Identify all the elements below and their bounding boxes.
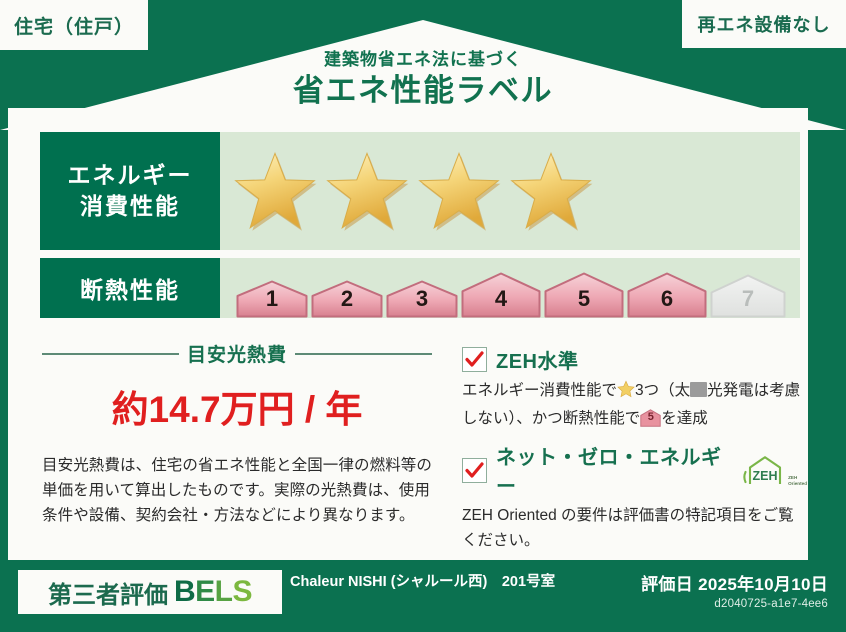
zeh-section: ZEH水準 エネルギー消費性能で3つ（太光発電は考慮しない）、かつ断熱性能で5を… — [462, 345, 807, 563]
zeh-standard-body-part4: を達成 — [661, 410, 708, 427]
title-subtitle: 建築物省エネ法に基づく — [0, 50, 846, 70]
insulation-level-2: 2 — [311, 280, 383, 318]
insulation-label-text: 断熱性能 — [80, 271, 180, 305]
energy-consumption-value — [220, 132, 800, 250]
label-footer: 第三者評価 BELS Chaleur NISHI (シャルール西) 201号室 … — [0, 560, 846, 632]
energy-consumption-label-line2: 消費性能 — [80, 191, 180, 222]
energy-consumption-label-line1: エネルギー — [68, 160, 193, 191]
checkbox-checked-icon — [462, 458, 487, 483]
badge-renewable-energy-label: 再エネ設備なし — [698, 11, 831, 37]
performance-section: エネルギー 消費性能 断熱性能 1234567 — [40, 132, 800, 326]
insulation-level-value: 6 — [627, 286, 707, 312]
cost-note: 目安光熱費は、住宅の省エネ性能と全国一律の燃料等の単価を用いて算出したものです。… — [42, 453, 432, 528]
badge-renewable-energy: 再エネ設備なし — [682, 0, 846, 48]
zeh-standard-title: ZEH水準 — [496, 345, 579, 374]
building-name: Chaleur NISHI (シャルール西) 201号室 — [290, 572, 590, 593]
evaluation-date-block: 評価日 2025年10月10日 d2040725-a1e7-4ee6 — [641, 570, 828, 610]
zeh-net-zero-title: ネット・ゼロ・エネルギー — [496, 441, 734, 499]
row-insulation: 断熱性能 1234567 — [40, 258, 800, 318]
energy-consumption-label: エネルギー 消費性能 — [40, 132, 220, 250]
zeh-item-net-zero: ネット・ゼロ・エネルギー ZEH ZEH Oriented ZEH Orient… — [462, 441, 807, 553]
title-main: 省エネ性能ラベル — [0, 72, 846, 111]
insulation-level-value: 7 — [710, 286, 786, 312]
zeh-standard-body-part1: エネルギー消費性能で — [462, 382, 617, 399]
cost-heading-rule-right — [295, 353, 432, 355]
zeh-standard-body-part2: 3つ（太 — [635, 382, 690, 399]
cost-heading-rule-left — [42, 353, 179, 355]
zeh-oriented-logo: ZEH ZEH Oriented — [743, 455, 807, 486]
insulation-level-value: 3 — [386, 286, 458, 312]
insulation-label: 断熱性能 — [40, 258, 220, 318]
insulation-level-value: 2 — [311, 286, 383, 312]
zeh-standard-body: エネルギー消費性能で3つ（太光発電は考慮しない）、かつ断熱性能で5を達成 — [462, 378, 807, 431]
zeh-net-zero-body: ZEH Oriented の要件は評価書の特記項目をご覧ください。 — [462, 503, 807, 553]
checkbox-checked-icon — [462, 347, 487, 372]
bels-logo-en: BELS — [174, 575, 252, 609]
row-energy-consumption: エネルギー 消費性能 — [40, 132, 800, 250]
bels-logo-jp: 第三者評価 — [48, 575, 168, 610]
star-icon — [232, 150, 318, 232]
bels-logo: 第三者評価 BELS — [18, 570, 282, 614]
insulation-level-3: 3 — [386, 280, 458, 318]
zeh-item-standard: ZEH水準 エネルギー消費性能で3つ（太光発電は考慮しない）、かつ断熱性能で5を… — [462, 345, 807, 431]
insulation-level-6: 6 — [627, 272, 707, 318]
insulation-level-5: 5 — [544, 272, 624, 318]
insulation-level-1: 1 — [236, 280, 308, 318]
cost-heading: 目安光熱費 — [42, 340, 432, 367]
evaluation-date-value: 2025年10月10日 — [698, 575, 828, 594]
star-icon-inline — [617, 380, 635, 406]
star-icon — [416, 150, 502, 232]
insulation-badge-inline: 5 — [640, 409, 661, 427]
insulation-badge-inline-value: 5 — [640, 409, 661, 427]
star-icon — [324, 150, 410, 232]
zeh-net-zero-header: ネット・ゼロ・エネルギー ZEH ZEH Oriented — [462, 441, 807, 499]
evaluation-date-label: 評価日 — [641, 575, 693, 594]
cost-heading-text: 目安光熱費 — [187, 340, 287, 367]
star-rating — [232, 150, 594, 232]
svg-text:ZEH: ZEH — [753, 469, 778, 483]
redaction-block — [690, 382, 707, 397]
insulation-level-value: 5 — [544, 286, 624, 312]
insulation-level-4: 4 — [461, 272, 541, 318]
zeh-logo-sub2: Oriented — [788, 481, 807, 486]
cost-amount: 約14.7万円 / 年 — [42, 379, 432, 433]
insulation-level-value: 1 — [236, 286, 308, 312]
insulation-level-value: 4 — [461, 286, 541, 312]
insulation-level-7: 7 — [710, 274, 786, 318]
zeh-oriented-logo-subtext: ZEH Oriented — [788, 475, 807, 485]
badge-building-type: 住宅（住戸） — [0, 0, 148, 50]
zeh-standard-header: ZEH水準 — [462, 345, 807, 374]
insulation-value: 1234567 — [220, 258, 800, 318]
star-icon — [508, 150, 594, 232]
label-title-block: 建築物省エネ法に基づく 省エネ性能ラベル — [0, 50, 846, 111]
label-id: d2040725-a1e7-4ee6 — [641, 598, 828, 610]
evaluation-date: 評価日 2025年10月10日 — [641, 570, 828, 595]
badge-building-type-label: 住宅（住戸） — [14, 12, 134, 39]
estimated-utility-cost-block: 目安光熱費 約14.7万円 / 年 目安光熱費は、住宅の省エネ性能と全国一律の燃… — [42, 340, 432, 528]
insulation-scale: 1234567 — [236, 272, 786, 318]
energy-performance-label: 住宅（住戸） 再エネ設備なし 建築物省エネ法に基づく 省エネ性能ラベル エネルギ… — [0, 0, 846, 632]
